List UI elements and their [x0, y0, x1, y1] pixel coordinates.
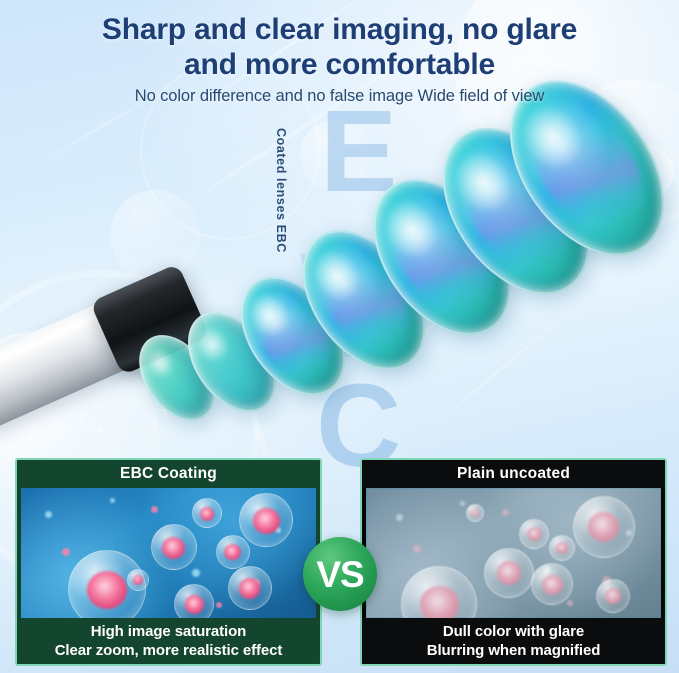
panel-caption-coated: High image saturation Clear zoom, more r… — [17, 618, 320, 664]
panel-title-uncoated: Plain uncoated — [362, 460, 665, 488]
cell-shape — [239, 493, 293, 547]
cell-shape — [151, 524, 197, 570]
cell-shape — [519, 519, 549, 549]
vs-badge: VS — [303, 537, 377, 611]
cell-shape — [216, 535, 250, 569]
sample-photo-coated — [21, 488, 316, 618]
cell-shape — [549, 535, 575, 561]
caption-line-2: Clear zoom, more realistic effect — [55, 641, 283, 660]
sample-photo-uncoated — [366, 488, 661, 618]
panel-title-coated: EBC Coating — [17, 460, 320, 488]
cell-shape — [596, 579, 630, 613]
coated-lenses-label: Coated lenses EBC — [274, 128, 288, 253]
cell-shape — [401, 566, 477, 618]
cell-shape — [484, 548, 534, 598]
cell-shape — [192, 498, 222, 528]
headline-line-1: Sharp and clear imaging, no glare — [102, 13, 577, 46]
cell-shape — [466, 504, 484, 522]
product-infographic: E W C Sh — [0, 0, 679, 673]
cell-shape — [174, 584, 214, 618]
comparison-panel-uncoated: Plain uncoated Dull c — [360, 458, 667, 666]
vs-label: VS — [316, 556, 363, 593]
caption-line-1: Dull color with glare — [443, 622, 584, 641]
page-title: Sharp and clear imaging, no glare and mo… — [0, 12, 679, 83]
cell-shape — [127, 569, 149, 591]
caption-line-1: High image saturation — [91, 622, 246, 641]
cell-field-vivid — [21, 488, 316, 618]
cell-shape — [531, 563, 573, 605]
cell-field-dull — [366, 488, 661, 618]
cell-shape — [573, 496, 635, 558]
panel-caption-uncoated: Dull color with glare Blurring when magn… — [362, 618, 665, 664]
comparison-panel-coated: EBC Coating High imag — [15, 458, 322, 666]
headline-line-2: and more comfortable — [184, 48, 495, 81]
cell-shape — [228, 566, 272, 610]
page-subtitle: No color difference and no false image W… — [0, 87, 679, 106]
caption-line-2: Blurring when magnified — [427, 641, 601, 660]
headline-block: Sharp and clear imaging, no glare and mo… — [0, 12, 679, 106]
